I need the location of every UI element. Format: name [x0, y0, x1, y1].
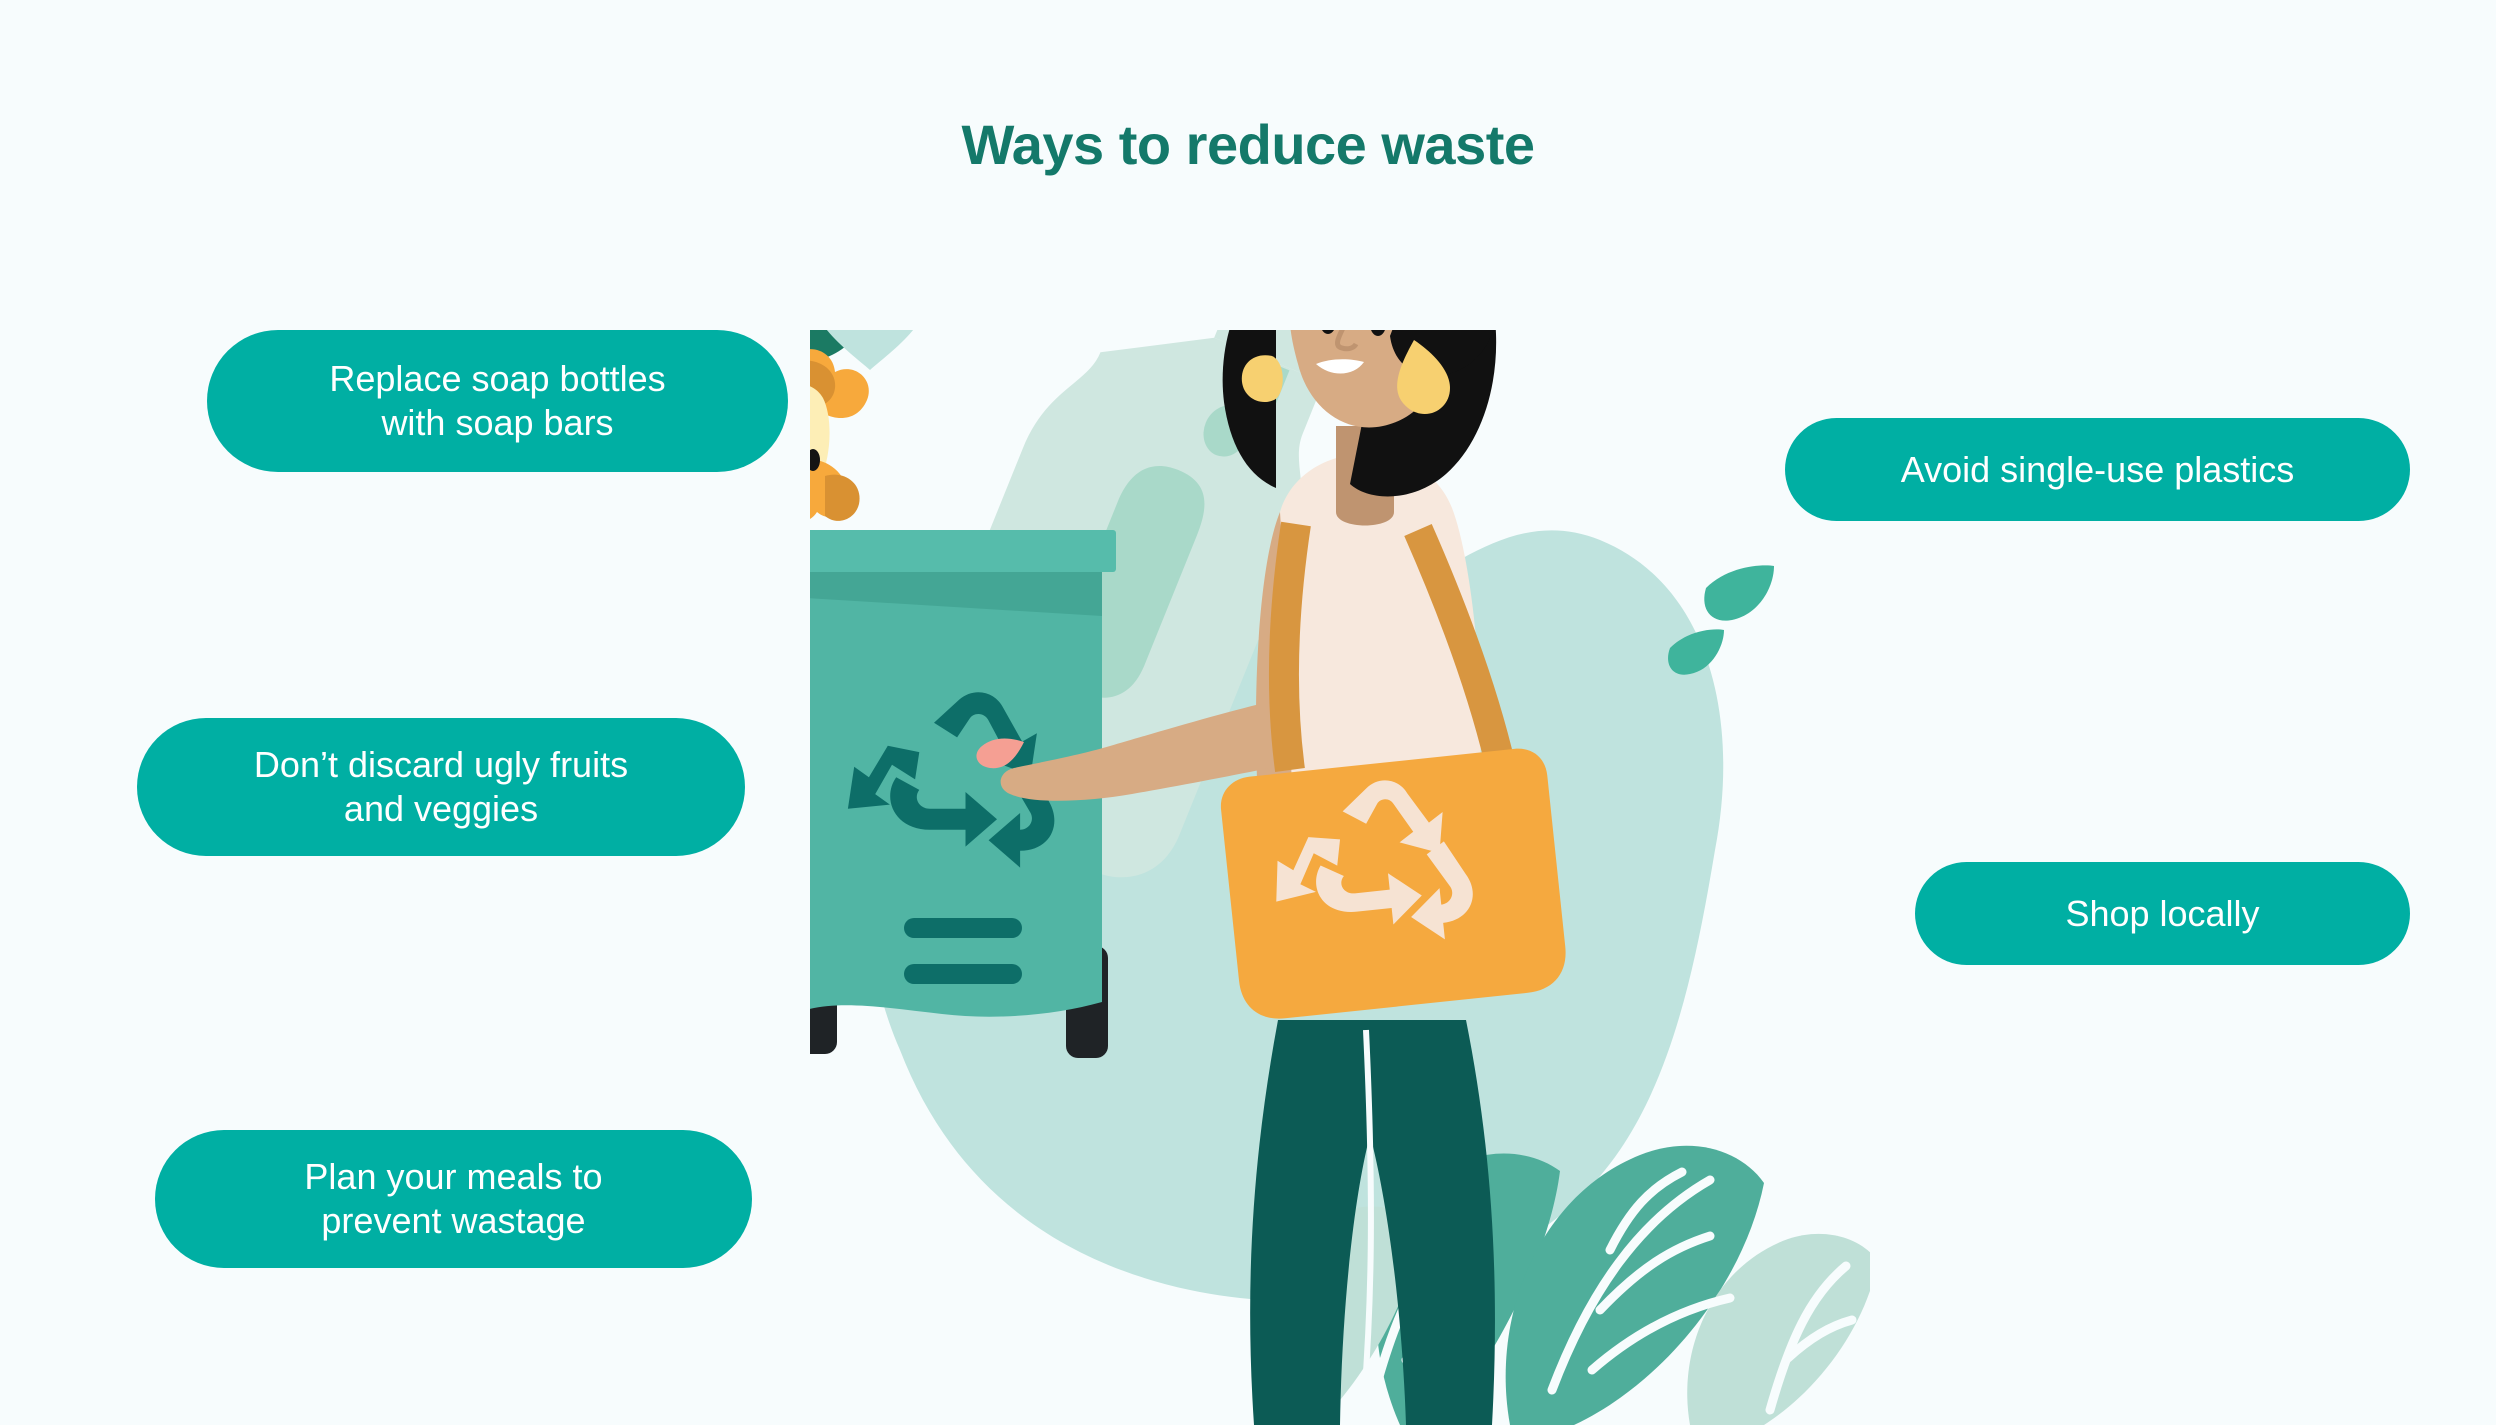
tip-pill-avoid-single-use-plastics[interactable]: Avoid single-use plastics — [1785, 418, 2410, 521]
tip-pill-replace-soap-bottles[interactable]: Replace soap bottles with soap bars — [207, 330, 788, 472]
tip-pill-dont-discard-ugly-produce[interactable]: Don’t discard ugly fruits and veggies — [137, 718, 745, 856]
earring-back — [1242, 355, 1283, 402]
bin-lid — [810, 530, 1116, 572]
tip-pill-shop-locally[interactable]: Shop locally — [1915, 862, 2410, 965]
tote-bag — [1218, 746, 1570, 1023]
bin-bar-bottom — [904, 964, 1022, 984]
tip-pill-plan-your-meals[interactable]: Plan your meals to prevent wastage — [155, 1130, 752, 1268]
page-title: Ways to reduce waste — [0, 112, 2496, 177]
bin-bar-top — [904, 918, 1022, 938]
apple-core — [810, 346, 869, 523]
infographic-canvas: Ways to reduce waste — [0, 0, 2496, 1425]
recycling-illustration — [810, 330, 1870, 1425]
